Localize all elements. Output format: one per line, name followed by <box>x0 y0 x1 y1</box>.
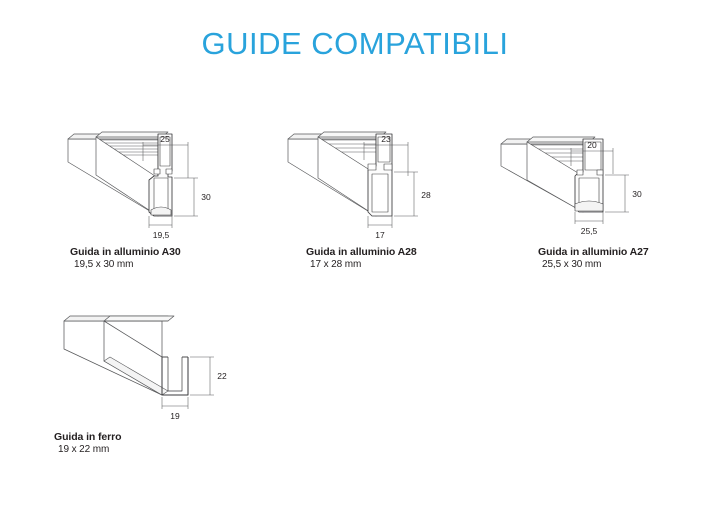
product-name: Guida in alluminio A30 <box>70 246 181 259</box>
dimension-label-right: 30 <box>201 192 211 202</box>
dimension-label-right: 30 <box>632 189 642 199</box>
product-card-a28: 23 28 17 Guida in alluminio A28 17 x 28 … <box>268 120 493 280</box>
product-dimensions: 25,5 x 30 mm <box>538 259 649 271</box>
profile-drawing-ferro: 22 19 <box>42 305 267 430</box>
product-card-ferro: 22 19 Guida in ferro 19 x 22 mm <box>42 305 267 465</box>
product-name: Guida in alluminio A28 <box>306 246 417 259</box>
dimension-label-bottom: 19 <box>170 411 180 421</box>
dimension-label-top: 23 <box>381 134 391 144</box>
product-card-a27: 20 30 25,5 Guida in alluminio A27 25,5 x… <box>483 120 708 280</box>
product-caption-ferro: Guida in ferro 19 x 22 mm <box>54 431 121 456</box>
product-name: Guida in alluminio A27 <box>538 246 649 259</box>
dimension-label-right: 22 <box>217 371 227 381</box>
profile-drawing-a28: 23 28 17 <box>268 120 493 245</box>
product-dimensions: 19,5 x 30 mm <box>70 259 181 271</box>
product-caption-a28: Guida in alluminio A28 17 x 28 mm <box>306 246 417 271</box>
dimension-label-bottom: 25,5 <box>581 226 598 236</box>
page-title: GUIDE COMPATIBILI <box>0 26 710 62</box>
profile-drawing-a30: 25 30 19,5 <box>48 120 273 245</box>
product-caption-a27: Guida in alluminio A27 25,5 x 30 mm <box>538 246 649 271</box>
product-name: Guida in ferro <box>54 431 121 444</box>
product-dimensions: 17 x 28 mm <box>306 259 417 271</box>
dimension-label-bottom: 19,5 <box>153 230 170 240</box>
product-caption-a30: Guida in alluminio A30 19,5 x 30 mm <box>70 246 181 271</box>
product-card-a30: 25 30 19,5 Guida in alluminio A30 19,5 x… <box>48 120 273 280</box>
dimension-label-bottom: 17 <box>375 230 385 240</box>
product-dimensions: 19 x 22 mm <box>54 444 121 456</box>
dimension-label-top: 20 <box>587 140 597 150</box>
profile-drawing-a27: 20 30 25,5 <box>483 120 708 245</box>
dimension-label-top: 25 <box>160 134 170 144</box>
dimension-label-right: 28 <box>421 190 431 200</box>
